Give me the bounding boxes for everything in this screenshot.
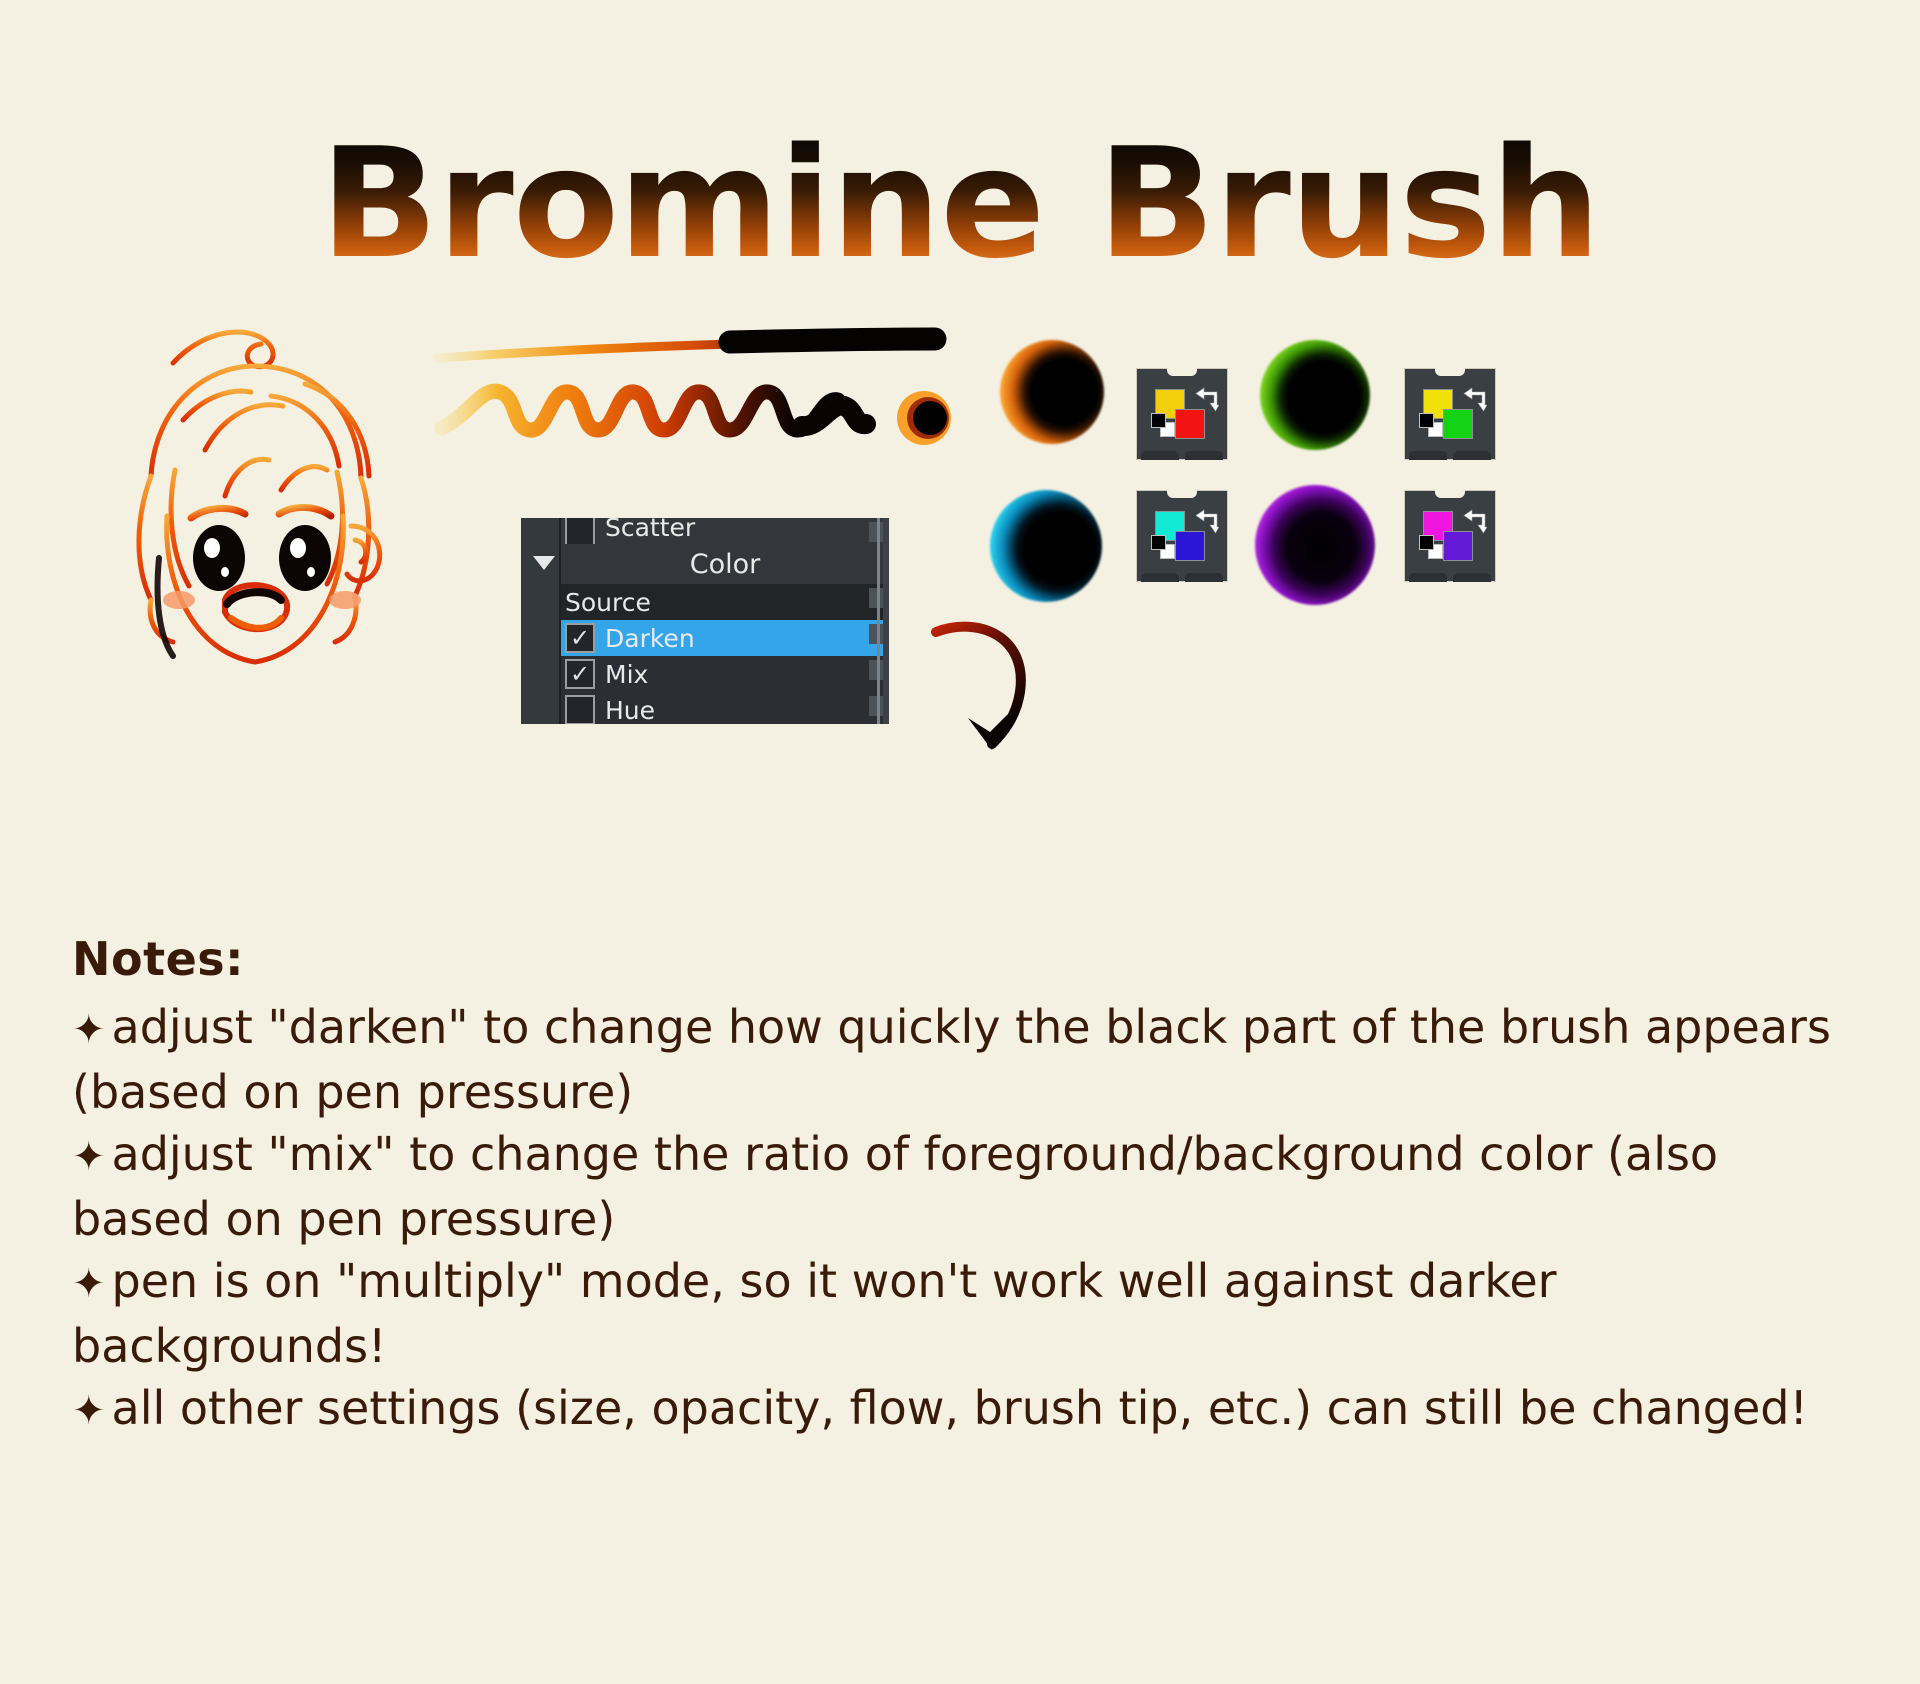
poster-canvas: Bromine Brush: [0, 0, 1920, 1684]
panel-row-hue[interactable]: Hue: [561, 692, 889, 724]
swatch-tab-bottom-left: [1409, 573, 1447, 582]
note-item-2-text: adjust "mix" to change the ratio of fore…: [72, 1127, 1718, 1246]
notes-section: Notes: ✦adjust "darken" to change how qu…: [72, 930, 1862, 1442]
background-color-square[interactable]: [1443, 409, 1473, 439]
scatter-checkbox[interactable]: [565, 518, 595, 546]
magenta-blob: [1255, 485, 1375, 605]
swatch-tab-top: [1435, 490, 1465, 498]
default-colors-icon[interactable]: [1151, 535, 1175, 559]
green-blob: [1260, 340, 1370, 450]
background-color-square[interactable]: [1443, 531, 1473, 561]
panel-gutter: [521, 518, 561, 724]
swatch-tab-bottom-right: [1453, 573, 1491, 582]
page-title: Bromine Brush: [0, 128, 1920, 280]
chibi-face-illustration: [55, 300, 455, 720]
source-slider[interactable]: [869, 588, 883, 608]
background-color-square[interactable]: [1175, 409, 1205, 439]
swatch-magenta-purple[interactable]: [1404, 490, 1496, 582]
default-colors-icon[interactable]: [1151, 413, 1175, 437]
mix-slider[interactable]: [869, 660, 883, 680]
panel-row-mix[interactable]: ✓ Mix: [561, 656, 889, 692]
hue-label: Hue: [605, 698, 655, 723]
bullet-icon: ✦: [72, 1134, 112, 1180]
panel-row-color-header[interactable]: Color: [561, 544, 889, 584]
note-item-3-text: pen is on "multiply" mode, so it won't w…: [72, 1254, 1557, 1373]
swatch-tab-bottom-right: [1185, 451, 1223, 460]
triangle-down-icon[interactable]: [533, 556, 555, 570]
swatch-cyan-blue[interactable]: [1136, 490, 1228, 582]
swap-colors-icon[interactable]: [1193, 387, 1219, 413]
swatch-yellow-green[interactable]: [1404, 368, 1496, 460]
panel-scrollbar-track[interactable]: [877, 518, 880, 724]
swatch-tab-bottom-left: [1141, 573, 1179, 582]
bullet-icon: ✦: [72, 1388, 112, 1434]
hue-checkbox[interactable]: [565, 695, 595, 724]
note-item-1-text: adjust "darken" to change how quickly th…: [72, 1000, 1831, 1119]
swatch-tab-bottom-right: [1185, 573, 1223, 582]
scatter-slider[interactable]: [869, 522, 883, 542]
default-colors-icon[interactable]: [1419, 535, 1443, 559]
swatch-tab-top: [1435, 368, 1465, 376]
swap-colors-icon[interactable]: [1461, 387, 1487, 413]
darken-label: Darken: [605, 626, 695, 651]
brush-settings-panel[interactable]: Scatter Color Source ✓ Darken ✓ Mix: [521, 518, 889, 724]
note-item-3: ✦pen is on "multiply" mode, so it won't …: [72, 1250, 1862, 1377]
color-section-label: Color: [690, 552, 761, 577]
swatch-tab-bottom-left: [1141, 451, 1179, 460]
orange-blob: [1000, 340, 1104, 444]
swap-colors-icon[interactable]: [1193, 509, 1219, 535]
default-colors-icon[interactable]: [1419, 413, 1443, 437]
swap-colors-icon[interactable]: [1461, 509, 1487, 535]
swatch-yellow-red[interactable]: [1136, 368, 1228, 460]
panel-row-source: Source: [561, 584, 889, 620]
darken-slider[interactable]: [869, 624, 883, 644]
swatch-tab-bottom-right: [1453, 451, 1491, 460]
bullet-icon: ✦: [72, 1007, 112, 1053]
cyan-blob: [990, 490, 1102, 602]
note-item-2: ✦adjust "mix" to change the ratio of for…: [72, 1123, 1862, 1250]
swatch-tab-top: [1167, 490, 1197, 498]
swatch-tab-bottom-left: [1409, 451, 1447, 460]
brush-stroke-demos: [430, 320, 990, 450]
bullet-icon: ✦: [72, 1261, 112, 1307]
panel-row-scatter[interactable]: Scatter: [561, 518, 889, 544]
note-item-4: ✦all other settings (size, opacity, flow…: [72, 1377, 1862, 1442]
panel-row-darken[interactable]: ✓ Darken: [561, 620, 889, 656]
curved-arrow-pointing-to-panel: [930, 610, 1050, 770]
swatch-tab-top: [1167, 368, 1197, 376]
scatter-label: Scatter: [605, 518, 695, 540]
note-item-1: ✦adjust "darken" to change how quickly t…: [72, 996, 1862, 1123]
background-color-square[interactable]: [1175, 531, 1205, 561]
source-label: Source: [565, 590, 651, 615]
panel-scrollbar-thumb[interactable]: [883, 518, 889, 724]
mix-checkbox[interactable]: ✓: [565, 659, 595, 689]
darken-checkbox[interactable]: ✓: [565, 623, 595, 653]
hue-slider[interactable]: [869, 696, 883, 716]
notes-heading: Notes:: [72, 930, 1862, 988]
mix-label: Mix: [605, 662, 648, 687]
note-item-4-text: all other settings (size, opacity, flow,…: [112, 1381, 1808, 1435]
